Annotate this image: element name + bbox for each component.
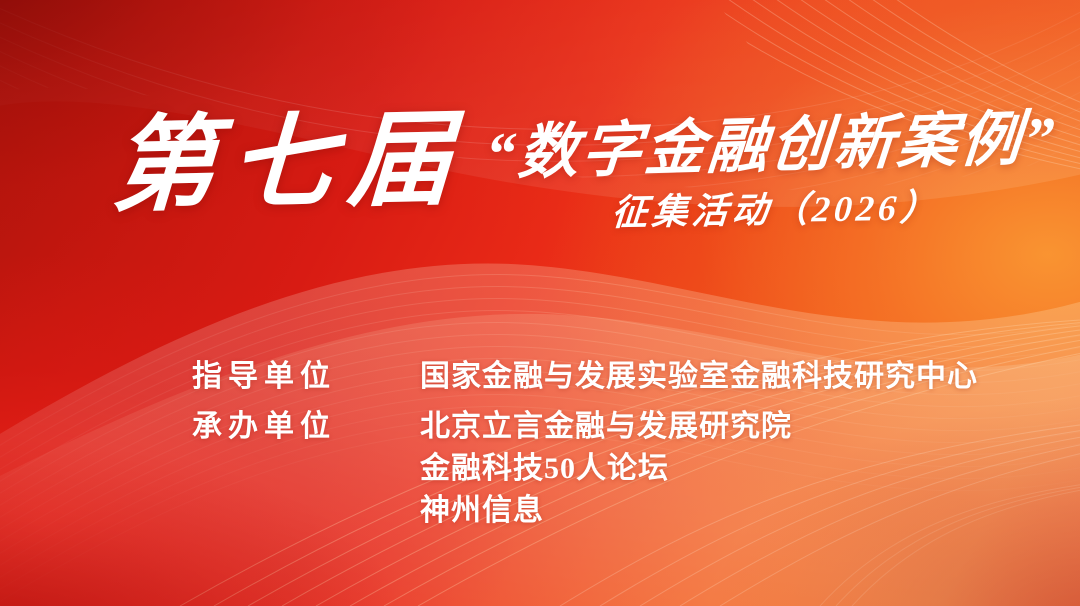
poster-title-edition: 第七届	[109, 108, 469, 219]
credit-values-guidance: 国家金融与发展实验室金融科技研究中心	[420, 356, 978, 398]
poster-credits: 指导单位 国家金融与发展实验室金融科技研究中心 承办单位 北京立言金融与发展研究…	[192, 356, 978, 540]
poster-subtitle-event-year: 征集活动（2026）	[611, 189, 942, 231]
poster-title-theme: “数字金融创新案例”	[483, 108, 1059, 184]
credit-value-organizer-0: 北京立言金融与发展研究院	[420, 406, 978, 448]
credit-values-organizer: 北京立言金融与发展研究院 金融科技50人论坛 神州信息	[420, 406, 978, 532]
poster-content: 第七届 “数字金融创新案例” 征集活动（2026） 指导单位 国家金融与发展实验…	[0, 0, 1080, 606]
credit-row-organizer: 承办单位 北京立言金融与发展研究院 金融科技50人论坛 神州信息	[192, 406, 978, 532]
credit-value-guidance-0: 国家金融与发展实验室金融科技研究中心	[420, 356, 978, 398]
credit-label-guidance: 指导单位	[192, 356, 420, 398]
poster-banner: 第七届 “数字金融创新案例” 征集活动（2026） 指导单位 国家金融与发展实验…	[0, 0, 1080, 606]
credit-value-organizer-1: 金融科技50人论坛	[420, 448, 978, 490]
credit-row-guidance: 指导单位 国家金融与发展实验室金融科技研究中心	[192, 356, 978, 398]
credit-label-organizer: 承办单位	[192, 406, 420, 448]
credit-value-organizer-2: 神州信息	[420, 490, 978, 532]
